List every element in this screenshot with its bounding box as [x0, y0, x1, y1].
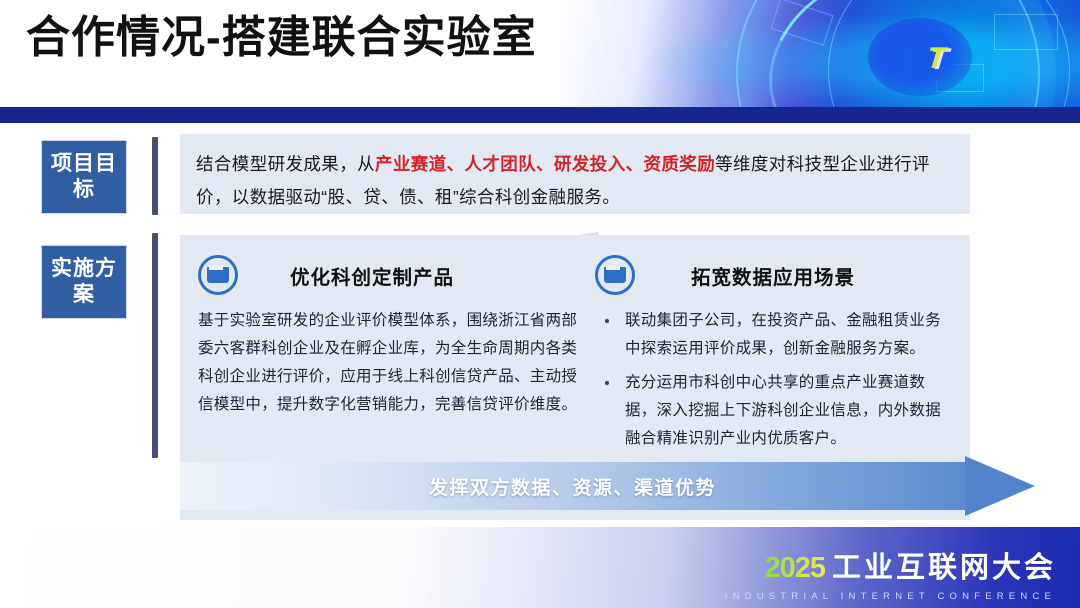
conference-logo: 2025 工业互联网大会 INDUSTRIAL INTERNET CONFERE… [725, 544, 1056, 602]
plan-divider-bar [152, 233, 158, 458]
plan-left-body: 基于实验室研发的企业评价模型体系，围绕浙江省两部委六客群科创企业及在孵企业库，为… [198, 307, 578, 419]
goal-highlight: 产业赛道、人才团队、研发投入、资质奖励 [375, 154, 715, 174]
list-item: 联动集团子公司，在投资产品、金融租赁业务中探索运用评价成果，创新金融服务方案。 [595, 307, 955, 363]
arrow-head-icon [965, 456, 1035, 516]
plan-column-left: 优化科创定制产品 基于实验室研发的企业评价模型体系，围绕浙江省两部委六客群科创企… [198, 253, 578, 419]
goal-panel: 结合模型研发成果，从产业赛道、人才团队、研发投入、资质奖励等维度对科技型企业进行… [180, 134, 970, 214]
inbox-icon [198, 255, 238, 295]
conference-name-cn: 工业互联网大会 [832, 544, 1056, 586]
header-tech-graphic: T [560, 0, 1080, 108]
section-tag-goal: 项目目标 [41, 140, 127, 214]
plan-right-title: 拓宽数据应用场景 [691, 261, 855, 290]
goal-divider-bar [152, 137, 158, 215]
plan-column-right: 拓宽数据应用场景 联动集团子公司，在投资产品、金融租赁业务中探索运用评价成果，创… [595, 253, 955, 459]
plan-left-header: 优化科创定制产品 [198, 253, 578, 297]
slide-footer: 2025 工业互联网大会 INDUSTRIAL INTERNET CONFERE… [0, 527, 1080, 608]
title-underline-bar [0, 107, 1080, 123]
conference-logo-main: 2025 工业互联网大会 [764, 544, 1056, 586]
plan-right-bullets: 联动集团子公司，在投资产品、金融租赁业务中探索运用评价成果，创新金融服务方案。 … [595, 307, 955, 453]
goal-text-part1: 结合模型研发成果，从 [196, 154, 375, 174]
slide: T 合作情况-搭建联合实验室 工业互联网产业联盟 Alliance of Ind… [0, 0, 1080, 608]
slide-header: T 合作情况-搭建联合实验室 [0, 0, 1080, 108]
list-item: 充分运用市科创中心共享的重点产业赛道数据，深入挖掘上下游科创企业信息，内外数据融… [595, 369, 955, 453]
goal-text: 结合模型研发成果，从产业赛道、人才团队、研发投入、资质奖励等维度对科技型企业进行… [196, 148, 958, 214]
header-chip-1-icon [994, 14, 1058, 50]
header-core-glow [868, 18, 972, 96]
plan-left-title: 优化科创定制产品 [290, 261, 454, 290]
page-title: 合作情况-搭建联合实验室 [26, 16, 537, 60]
section-tag-plan: 实施方案 [41, 245, 127, 319]
conference-name-en: INDUSTRIAL INTERNET CONFERENCE [725, 591, 1056, 602]
conference-year: 2025 [764, 552, 825, 585]
summary-arrow-banner: 发挥双方数据、资源、渠道优势 [180, 462, 1035, 510]
inbox-icon [595, 255, 635, 295]
arrow-banner-text: 发挥双方数据、资源、渠道优势 [180, 462, 965, 510]
plan-right-header: 拓宽数据应用场景 [595, 253, 955, 297]
